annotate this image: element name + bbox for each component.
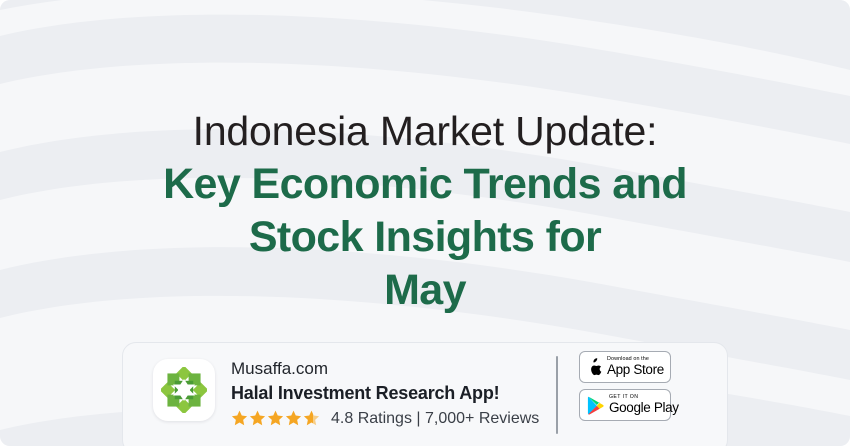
brand-name: Musaffa.com: [231, 357, 539, 381]
app-logo-tile: [153, 359, 215, 421]
stars-icon: [231, 410, 324, 427]
google-play-icon: [587, 396, 604, 415]
app-tagline: Halal Investment Research App!: [231, 381, 539, 406]
promo-banner: Indonesia Market Update: Key Economic Tr…: [0, 0, 850, 446]
google-play-big-text: Google Play: [609, 401, 679, 415]
star-rating: [231, 410, 324, 427]
card-divider: [556, 356, 558, 434]
rating-text: 4.8 Ratings | 7,000+ Reviews: [331, 407, 539, 430]
app-store-big-text: App Store: [607, 363, 664, 377]
google-play-badge[interactable]: GET IT ON Google Play: [579, 389, 671, 421]
headline-block: Indonesia Market Update: Key Economic Tr…: [0, 104, 850, 317]
app-card-text: Musaffa.com Halal Investment Research Ap…: [231, 357, 539, 430]
headline-line-1: Indonesia Market Update:: [0, 104, 850, 158]
apple-icon: [587, 358, 602, 377]
headline-line-2: Key Economic Trends and: [0, 158, 850, 211]
google-play-label: GET IT ON Google Play: [609, 395, 679, 415]
app-promo-card: Musaffa.com Halal Investment Research Ap…: [122, 342, 728, 446]
headline-line-4: May: [0, 264, 850, 317]
app-card-left: Musaffa.com Halal Investment Research Ap…: [123, 357, 539, 430]
headline-line-3: Stock Insights for: [0, 211, 850, 264]
app-store-badge[interactable]: Download on the App Store: [579, 351, 671, 383]
musaffa-star-logo: [161, 367, 207, 413]
app-store-label: Download on the App Store: [607, 357, 664, 377]
store-badges: Download on the App Store GET IT ON Goog…: [579, 351, 671, 421]
rating-row: 4.8 Ratings | 7,000+ Reviews: [231, 407, 539, 430]
